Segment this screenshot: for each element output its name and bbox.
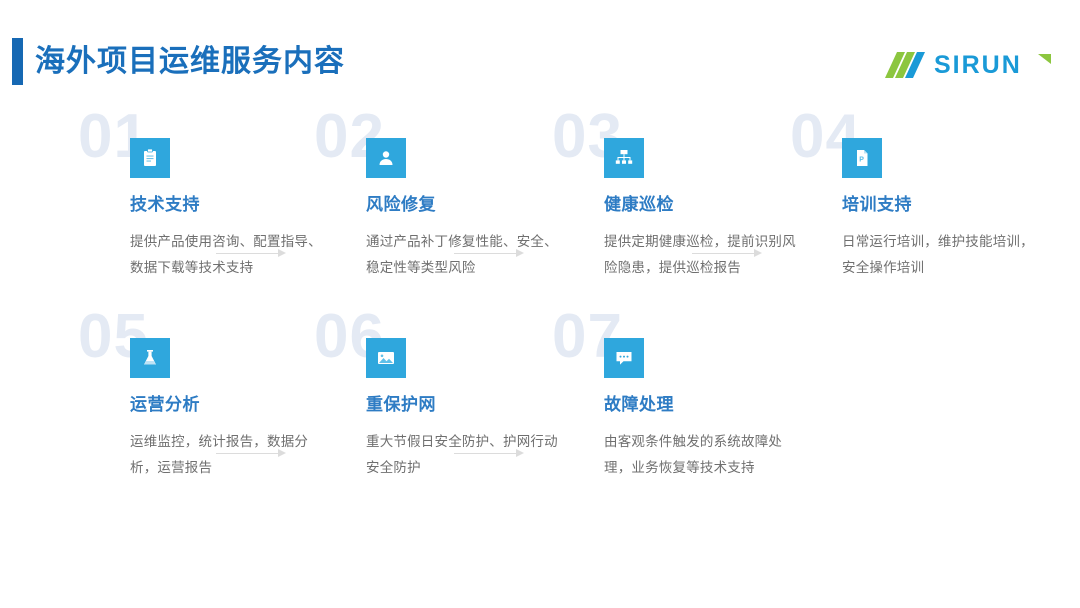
- card-icon-tile[interactable]: [130, 138, 170, 178]
- card-title: 风险修复: [366, 194, 598, 216]
- service-card-04[interactable]: 04 P 培训支持 日常运行培训，维护技能培训，安全操作培训: [842, 138, 1074, 281]
- card-icon-tile[interactable]: [366, 338, 406, 378]
- svg-text:SIRUN: SIRUN: [934, 51, 1022, 79]
- service-cards-grid: 01 技术支持 提供产品使用咨询、配置指导、数据下载等技术支持 02 风险修复 …: [0, 110, 1080, 608]
- chat-icon: [614, 348, 634, 368]
- file-icon: P: [852, 148, 872, 168]
- clipboard-icon: [140, 148, 160, 168]
- card-description: 提供定期健康巡检，提前识别风险隐患，提供巡检报告: [604, 229, 804, 281]
- card-icon-tile[interactable]: [604, 138, 644, 178]
- card-title: 故障处理: [604, 394, 836, 416]
- card-description: 由客观条件触发的系统故障处理，业务恢复等技术支持: [604, 429, 804, 481]
- card-description: 重大节假日安全防护、护网行动安全防护: [366, 429, 566, 481]
- card-title: 培训支持: [842, 194, 1074, 216]
- svg-text:P: P: [859, 157, 864, 164]
- card-description: 日常运行培训，维护技能培训，安全操作培训: [842, 229, 1042, 281]
- card-description: 提供产品使用咨询、配置指导、数据下载等技术支持: [130, 229, 330, 281]
- company-logo: SIRUN: [885, 48, 1052, 82]
- card-icon-tile[interactable]: [604, 338, 644, 378]
- title-accent-bar: [12, 38, 23, 85]
- page-title: 海外项目运维服务内容: [35, 38, 345, 85]
- service-card-07[interactable]: 07 故障处理 由客观条件触发的系统故障处理，业务恢复等技术支持: [604, 338, 836, 481]
- sirun-slash-mark: [885, 50, 925, 80]
- user-icon: [376, 148, 396, 168]
- image-icon: [376, 348, 396, 368]
- slide-header: 海外项目运维服务内容 SIRUN: [0, 0, 1080, 110]
- card-icon-tile[interactable]: [366, 138, 406, 178]
- card-title: 健康巡检: [604, 194, 836, 216]
- card-title: 技术支持: [130, 194, 362, 216]
- flask-icon: [140, 348, 160, 368]
- card-description: 运维监控，统计报告，数据分析，运营报告: [130, 429, 330, 481]
- card-icon-tile[interactable]: P: [842, 138, 882, 178]
- card-title: 运营分析: [130, 394, 362, 416]
- card-icon-tile[interactable]: [130, 338, 170, 378]
- card-description: 通过产品补丁修复性能、安全、稳定性等类型风险: [366, 229, 566, 281]
- sitemap-icon: [614, 148, 634, 168]
- card-title: 重保护网: [366, 394, 598, 416]
- sirun-wordmark: SIRUN: [934, 50, 1052, 80]
